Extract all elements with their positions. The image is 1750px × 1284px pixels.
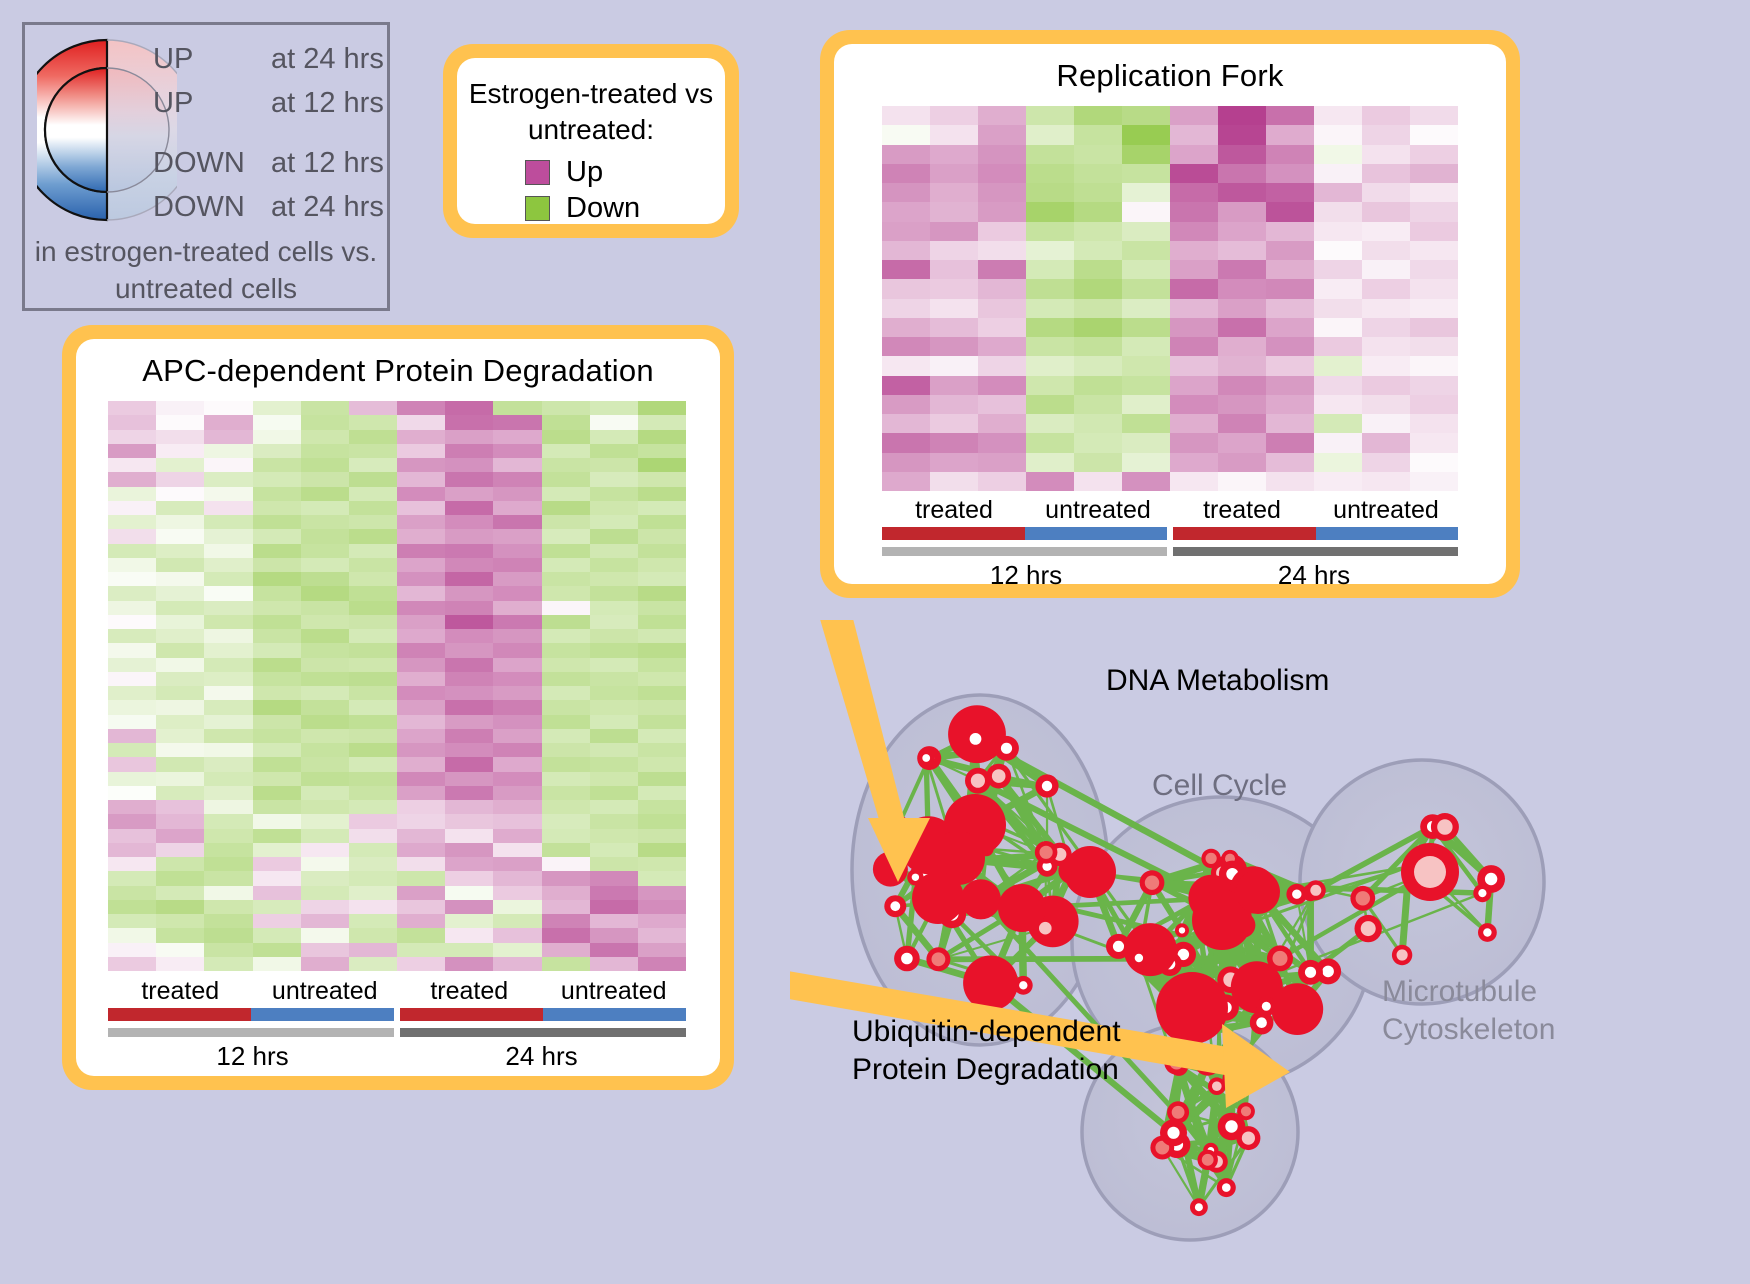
heatmap-cell — [1026, 164, 1074, 183]
heatmap-cell — [397, 544, 445, 558]
heatmap-cell — [156, 544, 204, 558]
heatmap-cell — [1170, 279, 1218, 298]
heatmap-cell — [882, 222, 930, 241]
heatmap-cell — [1026, 106, 1074, 125]
heatmap-cell — [638, 871, 686, 885]
heatmap-cell — [638, 458, 686, 472]
heatmap-cell — [301, 686, 349, 700]
heatmap-cell — [1266, 145, 1314, 164]
heatmap-cell — [301, 586, 349, 600]
network-node[interactable] — [1473, 884, 1491, 902]
network-node[interactable] — [918, 749, 935, 766]
heatmap-cell — [156, 928, 204, 942]
network-node[interactable] — [884, 895, 906, 917]
network-node[interactable] — [1064, 846, 1116, 898]
network-node[interactable] — [1355, 915, 1382, 942]
heatmap-cell — [542, 672, 590, 686]
heatmap-cell — [930, 202, 978, 221]
network-node[interactable] — [1175, 923, 1189, 937]
heatmap-cell — [445, 829, 493, 843]
heatmap-cell — [301, 772, 349, 786]
heatmap-cell — [542, 814, 590, 828]
heatmap-cell — [349, 643, 397, 657]
network-node[interactable] — [1298, 960, 1323, 985]
heatmap-cell — [1074, 125, 1122, 144]
heatmap-cell — [108, 857, 156, 871]
heatmap-cell — [882, 395, 930, 414]
heatmap-cell — [397, 586, 445, 600]
heatmap-cell — [930, 125, 978, 144]
heatmap-cell — [1170, 433, 1218, 452]
heatmap-cell — [1314, 472, 1362, 491]
heatmap-cell — [1074, 376, 1122, 395]
heatmap-cell — [590, 843, 638, 857]
heatmap-cell — [1122, 241, 1170, 260]
network-node[interactable] — [961, 879, 1001, 919]
heatmap-cell — [882, 376, 930, 395]
heatmap-cell — [930, 337, 978, 356]
heatmap-cell — [204, 900, 252, 914]
heatmap-cell — [1122, 222, 1170, 241]
network-node[interactable] — [1431, 813, 1459, 841]
node-circle — [1040, 846, 1053, 859]
key-panel-title: Estrogen-treated vs untreated: — [457, 76, 725, 148]
heatmap-cell — [1026, 260, 1074, 279]
heatmap-cell — [445, 558, 493, 572]
node-circle — [1478, 889, 1486, 897]
heatmap-cell — [204, 487, 252, 501]
heatmap-title: APC-dependent Protein Degradation — [76, 339, 720, 389]
heatmap-cell — [204, 943, 252, 957]
heatmap-cell — [1410, 414, 1458, 433]
heatmap-cell — [301, 601, 349, 615]
network-node[interactable] — [1392, 945, 1412, 965]
network-node[interactable] — [1190, 1198, 1208, 1216]
node-circle — [932, 952, 946, 966]
heatmap-cell — [542, 444, 590, 458]
heatmap-cell — [445, 415, 493, 429]
node-circle — [1356, 891, 1370, 905]
network-node[interactable] — [1478, 923, 1497, 942]
heatmap-cell — [978, 453, 1026, 472]
heatmap-cell — [978, 414, 1026, 433]
heatmap-cell — [156, 686, 204, 700]
node-circle — [961, 879, 1001, 919]
down-color-swatch — [525, 196, 550, 221]
heatmap-cell — [349, 843, 397, 857]
network-node[interactable] — [1236, 870, 1280, 914]
heatmap-cell — [445, 515, 493, 529]
heatmap-cell — [156, 586, 204, 600]
heatmap-cell — [397, 472, 445, 486]
heatmap-cell — [1410, 395, 1458, 414]
heatmap-cell — [156, 814, 204, 828]
replication-fork-heatmap — [882, 106, 1458, 491]
heatmap-cell — [638, 615, 686, 629]
heatmap-cell — [445, 814, 493, 828]
heatmap-cell — [349, 743, 397, 757]
network-node[interactable] — [1124, 923, 1177, 976]
heatmap-cell — [638, 757, 686, 771]
heatmap-cell — [493, 444, 541, 458]
heatmap-cell — [1122, 299, 1170, 318]
heatmap-cell — [108, 401, 156, 415]
heatmap-cell — [156, 914, 204, 928]
heatmap-cell — [1410, 145, 1458, 164]
heatmap-cell — [108, 700, 156, 714]
heatmap-cell — [1170, 183, 1218, 202]
network-node[interactable] — [1236, 1126, 1260, 1150]
heatmap-cell — [301, 430, 349, 444]
heatmap-cell — [108, 843, 156, 857]
heatmap-cell — [542, 629, 590, 643]
legend-timepoint: at 12 hrs — [271, 147, 384, 180]
heatmap-cell — [445, 800, 493, 814]
heatmap-cell — [204, 829, 252, 843]
heatmap-cell — [1362, 145, 1410, 164]
heatmap-cell — [349, 601, 397, 615]
heatmap-cell — [204, 786, 252, 800]
heatmap-cell — [1362, 125, 1410, 144]
heatmap-cell — [397, 957, 445, 971]
heatmap-cell — [493, 886, 541, 900]
heatmap-cell — [882, 433, 930, 452]
heatmap-cell — [1266, 260, 1314, 279]
node-circle — [1172, 1106, 1185, 1119]
heatmap-cell — [493, 515, 541, 529]
heatmap-cell — [156, 515, 204, 529]
heatmap-cell — [1314, 395, 1362, 414]
heatmap-cell — [349, 757, 397, 771]
heatmap-cell — [349, 572, 397, 586]
heatmap-cell — [301, 615, 349, 629]
network-node[interactable] — [963, 956, 1018, 1011]
heatmap-cell — [542, 658, 590, 672]
heatmap-cell — [1026, 222, 1074, 241]
heatmap-cell — [445, 943, 493, 957]
heatmap-cell — [253, 615, 301, 629]
heatmap-cell — [638, 415, 686, 429]
heatmap-cell — [542, 829, 590, 843]
heatmap-cell — [1170, 395, 1218, 414]
heatmap-cell — [638, 672, 686, 686]
heatmap-cell — [349, 943, 397, 957]
heatmap-cell — [1266, 241, 1314, 260]
heatmap-cell — [542, 957, 590, 971]
heatmap-cell — [108, 686, 156, 700]
heatmap-cell — [590, 458, 638, 472]
heatmap-cell — [930, 260, 978, 279]
heatmap-cell — [493, 672, 541, 686]
heatmap-cell — [349, 914, 397, 928]
node-circle — [1236, 870, 1280, 914]
heatmap-cell — [253, 501, 301, 515]
heatmap-cell — [108, 757, 156, 771]
heatmap-cell — [204, 558, 252, 572]
heatmap-cell — [1410, 125, 1458, 144]
heatmap-cell — [301, 501, 349, 515]
heatmap-cell — [253, 743, 301, 757]
heatmap-cell — [590, 629, 638, 643]
node-circle — [1273, 951, 1288, 966]
heatmap-cell — [882, 125, 930, 144]
heatmap-cell — [204, 843, 252, 857]
legend-direction: DOWN — [153, 191, 271, 224]
heatmap-cell — [445, 843, 493, 857]
heatmap-cell — [1218, 106, 1266, 125]
node-circle — [1322, 966, 1334, 978]
network-node[interactable] — [1306, 880, 1326, 900]
heatmap-cell — [1122, 414, 1170, 433]
heatmap-cell — [493, 601, 541, 615]
network-node[interactable] — [1035, 841, 1058, 864]
heatmap-cell — [445, 743, 493, 757]
heatmap-cell — [542, 886, 590, 900]
network-node[interactable] — [994, 736, 1019, 761]
heatmap-cell — [493, 700, 541, 714]
heatmap-cell — [108, 586, 156, 600]
heatmap-cell — [108, 914, 156, 928]
heatmap-cell — [1218, 145, 1266, 164]
heatmap-cell — [1170, 145, 1218, 164]
heatmap-cell — [397, 786, 445, 800]
heatmap-cell — [1362, 395, 1410, 414]
network-node[interactable] — [965, 768, 991, 794]
heatmap-cell — [301, 472, 349, 486]
heatmap-cell — [638, 430, 686, 444]
heatmap-cell — [1122, 376, 1170, 395]
heatmap-cell — [156, 800, 204, 814]
heatmap-cell — [542, 415, 590, 429]
heatmap-cell — [397, 458, 445, 472]
heatmap-cell — [978, 222, 1026, 241]
heatmap-cell — [445, 928, 493, 942]
heatmap-cell — [301, 572, 349, 586]
axis-time-bar — [400, 1028, 686, 1037]
heatmap-cell — [156, 458, 204, 472]
heatmap-cell — [493, 914, 541, 928]
network-node[interactable] — [998, 884, 1046, 932]
network-node[interactable] — [1201, 849, 1220, 868]
heatmap-cell — [1074, 106, 1122, 125]
heatmap-cell — [397, 928, 445, 942]
heatmap-cell — [349, 871, 397, 885]
heatmap-cell — [1266, 337, 1314, 356]
heatmap-cell — [349, 686, 397, 700]
heatmap-cell — [1314, 164, 1362, 183]
heatmap-cell — [590, 743, 638, 757]
network-node[interactable] — [1198, 1150, 1218, 1170]
network-node[interactable] — [1160, 1119, 1187, 1146]
heatmap-cell — [253, 800, 301, 814]
heatmap-cell — [882, 202, 930, 221]
heatmap-cell — [542, 800, 590, 814]
heatmap-cell — [108, 529, 156, 543]
network-node[interactable] — [912, 872, 964, 924]
heatmap-cell — [542, 871, 590, 885]
heatmap-cell — [978, 433, 1026, 452]
legend-timepoint: at 12 hrs — [271, 87, 384, 120]
heatmap-cell — [156, 672, 204, 686]
heatmap-cell — [108, 729, 156, 743]
heatmap-cell — [1074, 279, 1122, 298]
heatmap-cell — [253, 572, 301, 586]
heatmap-cell — [156, 943, 204, 957]
heatmap-cell — [108, 943, 156, 957]
network-node[interactable] — [986, 764, 1011, 789]
heatmap-cell — [301, 729, 349, 743]
heatmap-cell — [1410, 337, 1458, 356]
heatmap-cell — [1314, 299, 1362, 318]
heatmap-cell — [253, 487, 301, 501]
heatmap-cell — [493, 772, 541, 786]
network-node[interactable] — [1217, 1178, 1236, 1197]
heatmap-cell — [1266, 106, 1314, 125]
heatmap-cell — [301, 800, 349, 814]
heatmap-cell — [590, 501, 638, 515]
heatmap-cell — [1170, 472, 1218, 491]
network-node[interactable] — [926, 947, 950, 971]
heatmap-cell — [493, 686, 541, 700]
heatmap-cell — [253, 857, 301, 871]
heatmap-cell — [445, 957, 493, 971]
heatmap-cell — [1362, 279, 1410, 298]
heatmap-cell — [108, 615, 156, 629]
heatmap-cell — [930, 299, 978, 318]
heatmap-cell — [108, 572, 156, 586]
heatmap-cell — [253, 529, 301, 543]
heatmap-cell — [204, 772, 252, 786]
node-circle — [1195, 1203, 1203, 1211]
heatmap-cell — [108, 957, 156, 971]
network-node[interactable] — [1267, 945, 1293, 971]
network-node[interactable] — [1401, 843, 1459, 901]
heatmap-cell — [108, 515, 156, 529]
heatmap-cell — [1266, 202, 1314, 221]
heatmap-cell — [108, 601, 156, 615]
network-node[interactable] — [963, 726, 989, 752]
heatmap-cell — [445, 786, 493, 800]
heatmap-cell — [156, 829, 204, 843]
network-node[interactable] — [1140, 870, 1165, 895]
heatmap-cell — [1122, 337, 1170, 356]
heatmap-cell — [253, 643, 301, 657]
heatmap-cell — [397, 487, 445, 501]
heatmap-cell — [108, 501, 156, 515]
heatmap-cell — [301, 957, 349, 971]
heatmap-cell — [493, 544, 541, 558]
heatmap-cell — [638, 914, 686, 928]
heatmap-cell — [253, 472, 301, 486]
heatmap-cell — [542, 843, 590, 857]
heatmap-cell — [349, 444, 397, 458]
heatmap-cell — [349, 786, 397, 800]
heatmap-cell — [108, 772, 156, 786]
network-node[interactable] — [1035, 774, 1058, 797]
heatmap-cell — [1314, 318, 1362, 337]
heatmap-cell — [930, 414, 978, 433]
heatmap-cell — [1026, 183, 1074, 202]
axis-group-label: treated — [1170, 496, 1314, 525]
heatmap-cell — [930, 222, 978, 241]
heatmap-cell — [108, 558, 156, 572]
heatmap-cell — [590, 757, 638, 771]
heatmap-cell — [590, 643, 638, 657]
heatmap-cell — [1314, 241, 1362, 260]
node-circle — [1241, 1106, 1251, 1116]
heatmap-cell — [349, 886, 397, 900]
heatmap-cell — [349, 458, 397, 472]
heatmap-cell — [156, 843, 204, 857]
node-circle — [1242, 1132, 1255, 1145]
heatmap-cell — [204, 444, 252, 458]
heatmap-cell — [542, 715, 590, 729]
legend-direction: DOWN — [153, 147, 271, 180]
heatmap-cell — [301, 843, 349, 857]
node-circle — [1483, 928, 1491, 936]
axis-time-labels: 12 hrs24 hrs — [108, 1041, 686, 1072]
heatmap-cell — [253, 871, 301, 885]
heatmap-cell — [156, 871, 204, 885]
heatmap-cell — [156, 700, 204, 714]
heatmap-cell — [349, 814, 397, 828]
heatmap-cell — [349, 857, 397, 871]
axis-treatment-bar — [882, 527, 1025, 540]
heatmap-cell — [882, 453, 930, 472]
heatmap-cell — [397, 415, 445, 429]
heatmap-cell — [493, 829, 541, 843]
heatmap-cell — [1122, 183, 1170, 202]
heatmap-cell — [301, 643, 349, 657]
heatmap-cell — [1026, 299, 1074, 318]
legend-timepoint: at 24 hrs — [271, 43, 384, 76]
axis-treatment-bar — [1316, 527, 1459, 540]
heatmap-cell — [978, 164, 1026, 183]
network-node[interactable] — [1130, 949, 1149, 968]
heatmap-cell — [108, 786, 156, 800]
network-node[interactable] — [894, 946, 920, 972]
heatmap-cell — [445, 572, 493, 586]
heatmap-cell — [542, 501, 590, 515]
heatmap-cell — [1026, 241, 1074, 260]
network-node[interactable] — [1237, 1102, 1255, 1120]
network-node[interactable] — [1208, 1077, 1226, 1095]
heatmap-cell — [542, 401, 590, 415]
heatmap-cell — [590, 829, 638, 843]
heatmap-cell — [253, 658, 301, 672]
heatmap-cell — [882, 472, 930, 491]
network-node[interactable] — [1271, 983, 1323, 1035]
heatmap-cell — [1218, 222, 1266, 241]
heatmap-cell — [1314, 222, 1362, 241]
heatmap-cell — [542, 458, 590, 472]
axis-time-bar — [882, 547, 1167, 556]
heatmap-cell — [1122, 145, 1170, 164]
heatmap-cell — [253, 415, 301, 429]
heatmap-cell — [590, 729, 638, 743]
heatmap-cell — [397, 572, 445, 586]
node-circle — [1042, 781, 1052, 791]
axis-treatment-bars — [882, 527, 1458, 540]
network-node[interactable] — [1350, 886, 1375, 911]
heatmap-cell — [397, 430, 445, 444]
heatmap-cell — [301, 415, 349, 429]
network-node[interactable] — [1156, 972, 1228, 1044]
heatmap-cell — [445, 401, 493, 415]
node-circle — [1212, 1081, 1222, 1091]
heatmap-cell — [638, 472, 686, 486]
heatmap-cell — [1170, 125, 1218, 144]
